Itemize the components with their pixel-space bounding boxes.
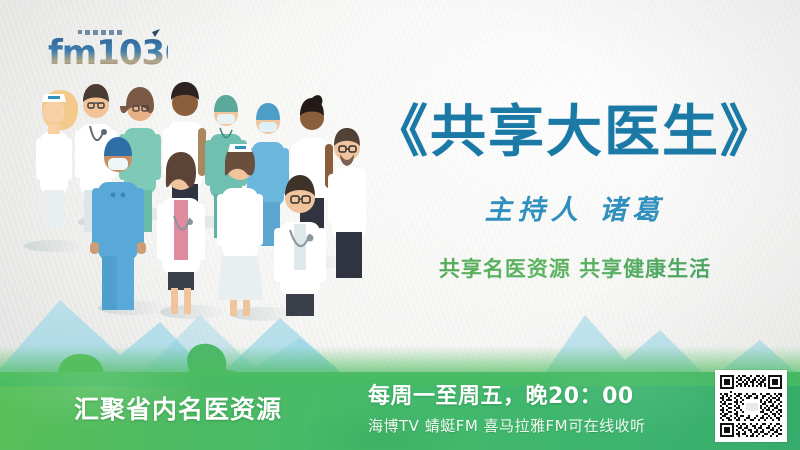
program-tagline: 共享名医资源 共享健康生活: [360, 253, 790, 283]
broadcast-schedule: 每周一至周五，晚20：00: [368, 378, 698, 410]
medical-staff-group-illustration: [14, 72, 374, 322]
svg-text:fm1036: fm1036: [48, 33, 168, 70]
program-host: 主持人 诸葛: [360, 188, 790, 227]
band-info: 每周一至周五，晚20：00 海博TV 蜻蜓FM 喜马拉雅FM可在线收听: [368, 378, 698, 436]
radio-program-poster: fm1036 《共享大医生》 主持人 诸葛 共享名医资源 共享健康生活 汇聚省内…: [0, 0, 800, 450]
band-slogan: 汇聚省内名医资源: [74, 390, 282, 426]
program-title: 《共享大医生》: [360, 104, 790, 160]
station-logo: fm1036: [48, 28, 168, 70]
title-block: 《共享大医生》 主持人 诸葛 共享名医资源 共享健康生活: [360, 104, 790, 283]
streaming-platforms: 海博TV 蜻蜓FM 喜马拉雅FM可在线收听: [368, 415, 698, 436]
qr-code[interactable]: [715, 370, 787, 442]
